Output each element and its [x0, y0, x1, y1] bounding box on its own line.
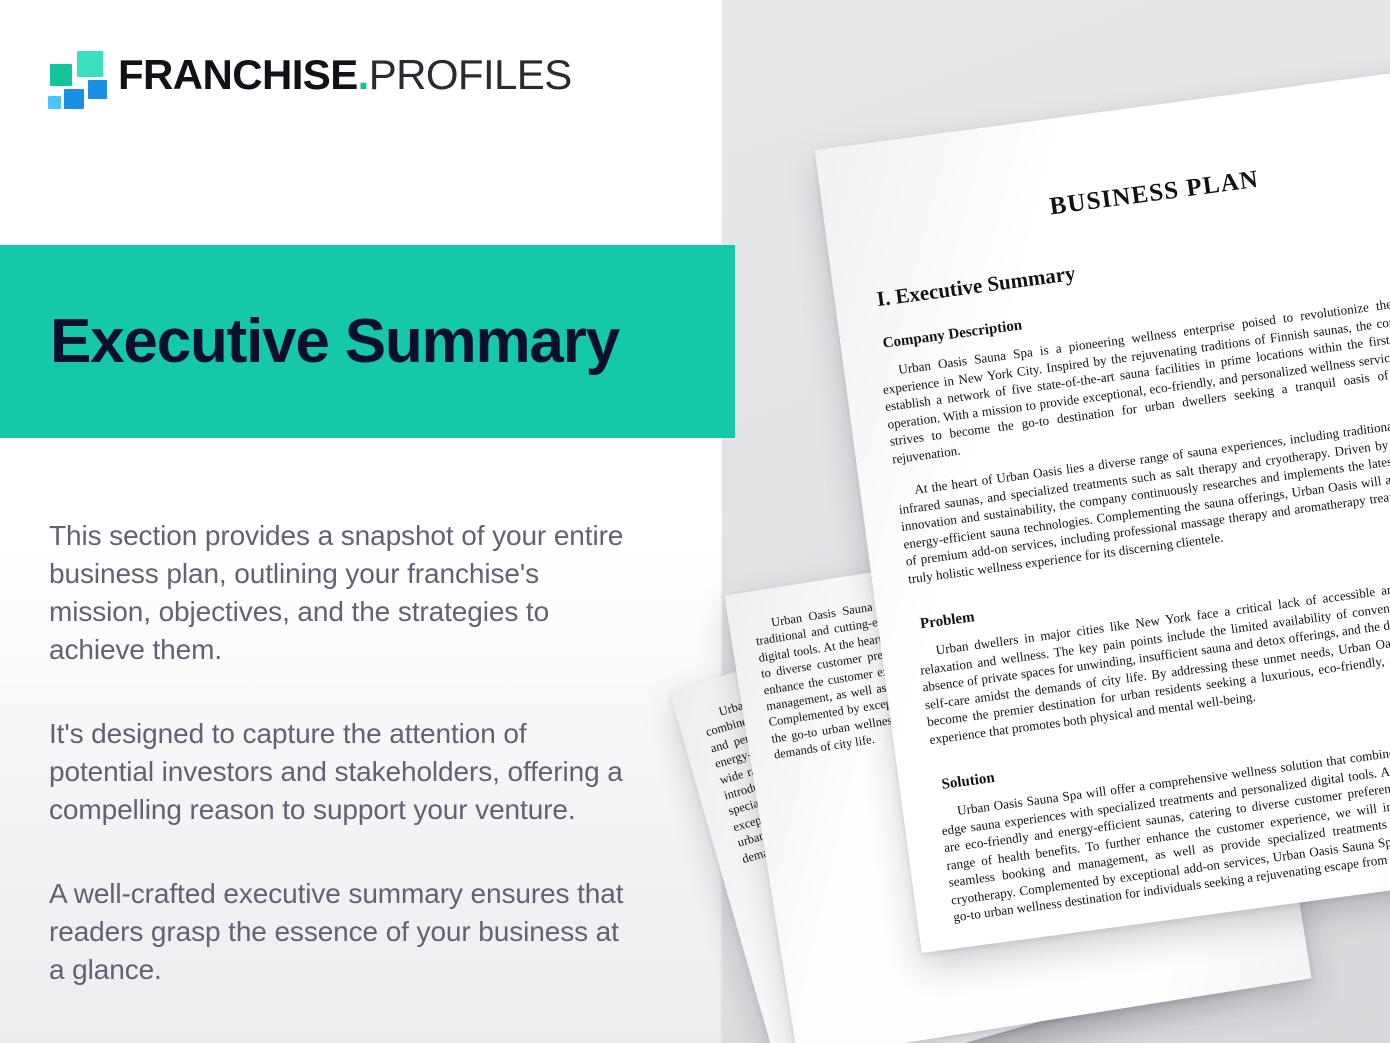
page-title: Executive Summary — [50, 311, 619, 373]
slide-root: FRANCHISE.PROFILES Executive Summary Thi… — [0, 0, 1390, 1043]
document-stack: Urban Oasis Sauna Spa will offer a compr… — [700, 120, 1390, 1043]
logo-square-mint — [77, 51, 103, 77]
logo-square-green — [50, 64, 72, 86]
logo-wordmark: FRANCHISE.PROFILES — [118, 54, 572, 96]
logo-square-lightblue — [48, 96, 61, 109]
brand-logo[interactable]: FRANCHISE.PROFILES — [46, 42, 572, 108]
body-paragraph-2: It's designed to capture the attention o… — [49, 715, 639, 829]
logo-square-blue-left — [64, 89, 84, 109]
body-paragraph-3: A well-crafted executive summary ensures… — [49, 875, 639, 989]
logo-word-dot: . — [358, 51, 369, 98]
body-paragraph-1: This section provides a snapshot of your… — [49, 517, 639, 669]
logo-mark-icon — [46, 47, 104, 103]
body-copy: This section provides a snapshot of your… — [49, 517, 639, 989]
section-title-band: Executive Summary — [0, 245, 735, 438]
logo-word-bold: FRANCHISE — [118, 51, 358, 98]
logo-square-blue-right — [88, 80, 107, 99]
logo-word-light: PROFILES — [369, 51, 572, 98]
